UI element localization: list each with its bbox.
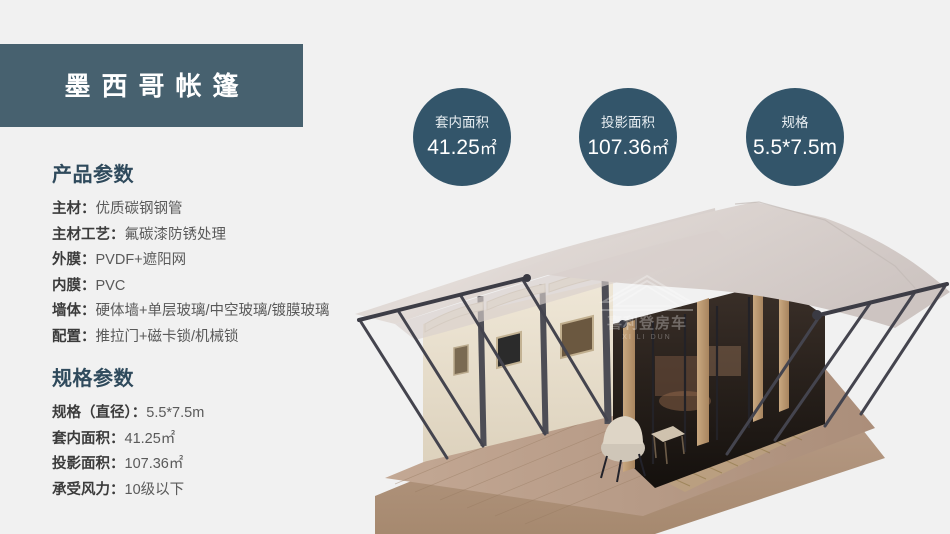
product-param-value: 硬体墙+单层玻璃/中空玻璃/镀膜玻璃 — [96, 303, 330, 319]
product-param-label: 外膜： — [52, 252, 96, 268]
product-param-label: 墙体： — [52, 303, 96, 319]
spec-parameters-section: 规格参数 规格（直径）：5.5*7.5m 套内面积：41.25㎡ 投影面积：10… — [52, 367, 392, 503]
spec-param-value: 41.25㎡ — [125, 431, 176, 447]
stat-circle-number: 5.5*7.5m — [753, 136, 837, 159]
spec-param-value: 5.5*7.5m — [146, 405, 204, 421]
stat-circle-unit: ㎡ — [652, 139, 669, 158]
interior-furniture — [655, 356, 701, 396]
spec-param-row: 规格（直径）：5.5*7.5m — [52, 401, 392, 427]
product-param-label: 内膜： — [52, 278, 96, 294]
product-param-row: 主材工艺：氟碳漆防锈处理 — [52, 223, 382, 249]
tent-illustration — [355, 196, 950, 534]
tent-render-image: 喜利登房车 XI LI DUN — [355, 196, 950, 534]
stat-circle-label: 套内面积 — [435, 116, 489, 130]
stat-circle-value: 5.5*7.5m — [753, 137, 837, 158]
product-param-row: 墙体：硬体墙+单层玻璃/中空玻璃/镀膜玻璃 — [52, 299, 382, 325]
stat-circle-label: 投影面积 — [601, 116, 655, 130]
stat-circle-number: 107.36 — [587, 136, 651, 159]
product-parameters-heading: 产品参数 — [52, 163, 382, 187]
stat-circle-unit: ㎡ — [480, 139, 497, 158]
product-param-value: PVDF+遮阳网 — [96, 252, 187, 268]
title-banner: 墨西哥帐篷 — [0, 44, 303, 127]
product-param-row: 主材：优质碳钢钢管 — [52, 197, 382, 223]
interior-wardrobe — [707, 346, 741, 376]
stat-circle-number: 41.25 — [427, 136, 480, 159]
product-param-label: 配置： — [52, 329, 96, 345]
product-param-value: 氟碳漆防锈处理 — [125, 227, 227, 243]
spec-param-row: 投影面积：107.36㎡ — [52, 452, 392, 478]
stat-circle-projected-area: 投影面积 107.36㎡ — [579, 88, 677, 186]
product-param-row: 配置：推拉门+磁卡锁/机械锁 — [52, 325, 382, 351]
stat-circle-value: 41.25㎡ — [427, 137, 497, 158]
product-param-row: 内膜：PVC — [52, 274, 382, 300]
spec-param-label: 投影面积： — [52, 456, 125, 472]
product-param-label: 主材： — [52, 201, 96, 217]
stat-circle-value: 107.36㎡ — [587, 137, 668, 158]
spec-param-label: 规格（直径）： — [52, 405, 146, 421]
stat-circle-label: 规格 — [782, 116, 809, 130]
page-title: 墨西哥帐篷 — [53, 73, 249, 99]
product-param-value: PVC — [96, 278, 126, 294]
stat-circle-dimensions: 规格 5.5*7.5m — [746, 88, 844, 186]
spec-param-row: 承受风力：10级以下 — [52, 478, 392, 504]
product-param-value: 推拉门+磁卡锁/机械锁 — [96, 329, 239, 345]
spec-param-row: 套内面积：41.25㎡ — [52, 427, 392, 453]
spec-param-value: 107.36㎡ — [125, 456, 184, 472]
product-param-row: 外膜：PVDF+遮阳网 — [52, 248, 382, 274]
stat-circle-interior-area: 套内面积 41.25㎡ — [413, 88, 511, 186]
spec-param-label: 承受风力： — [52, 482, 125, 498]
spec-param-label: 套内面积： — [52, 431, 125, 447]
product-parameters-section: 产品参数 主材：优质碳钢钢管 主材工艺：氟碳漆防锈处理 外膜：PVDF+遮阳网 … — [52, 163, 382, 350]
product-param-value: 优质碳钢钢管 — [96, 201, 183, 217]
product-param-label: 主材工艺： — [52, 227, 125, 243]
spec-param-value: 10级以下 — [125, 482, 185, 498]
spec-parameters-heading: 规格参数 — [52, 367, 392, 391]
product-spec-page: 墨西哥帐篷 产品参数 主材：优质碳钢钢管 主材工艺：氟碳漆防锈处理 外膜：PVD… — [0, 0, 950, 534]
